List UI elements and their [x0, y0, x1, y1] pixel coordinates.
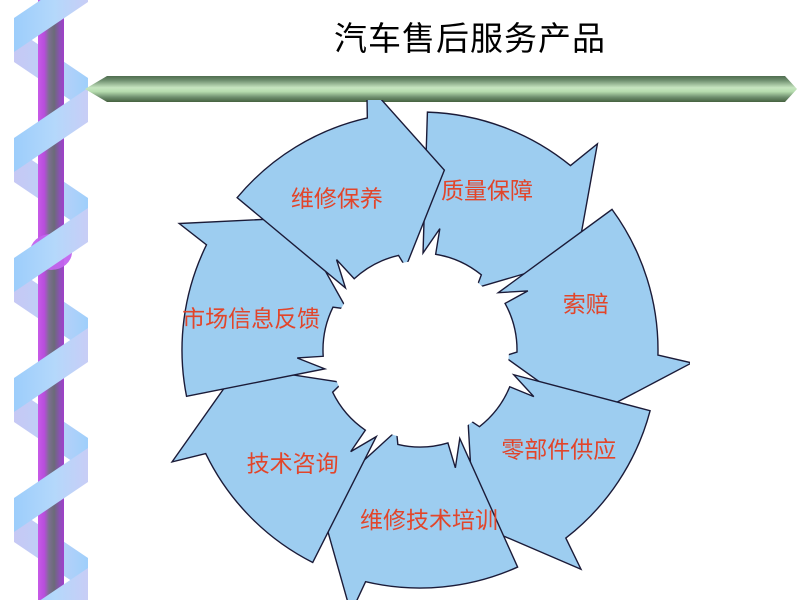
- slide-canvas: 汽车售后服务产品 质量保障索赔零部件供应维修技术培训技术咨询市场信息反馈维修保养: [0, 0, 800, 600]
- cycle-label-market-feedback: 市场信息反馈: [182, 307, 320, 333]
- cycle-label-repair-maintenance: 维修保养: [291, 187, 383, 213]
- cycle-label-parts-supply: 零部件供应: [501, 437, 616, 463]
- cycle-diagram: 质量保障索赔零部件供应维修技术培训技术咨询市场信息反馈维修保养: [150, 100, 690, 600]
- cycle-label-technical-consulting: 技术咨询: [247, 451, 339, 477]
- cycle-label-claims: 索赔: [563, 292, 609, 318]
- page-title: 汽车售后服务产品: [150, 18, 790, 60]
- divider-arrow-shape: [85, 76, 797, 102]
- cycle-label-quality-assurance: 质量保障: [441, 179, 533, 205]
- cycle-center-hole: [331, 261, 509, 439]
- cycle-label-repair-training: 维修技术培训: [360, 508, 498, 534]
